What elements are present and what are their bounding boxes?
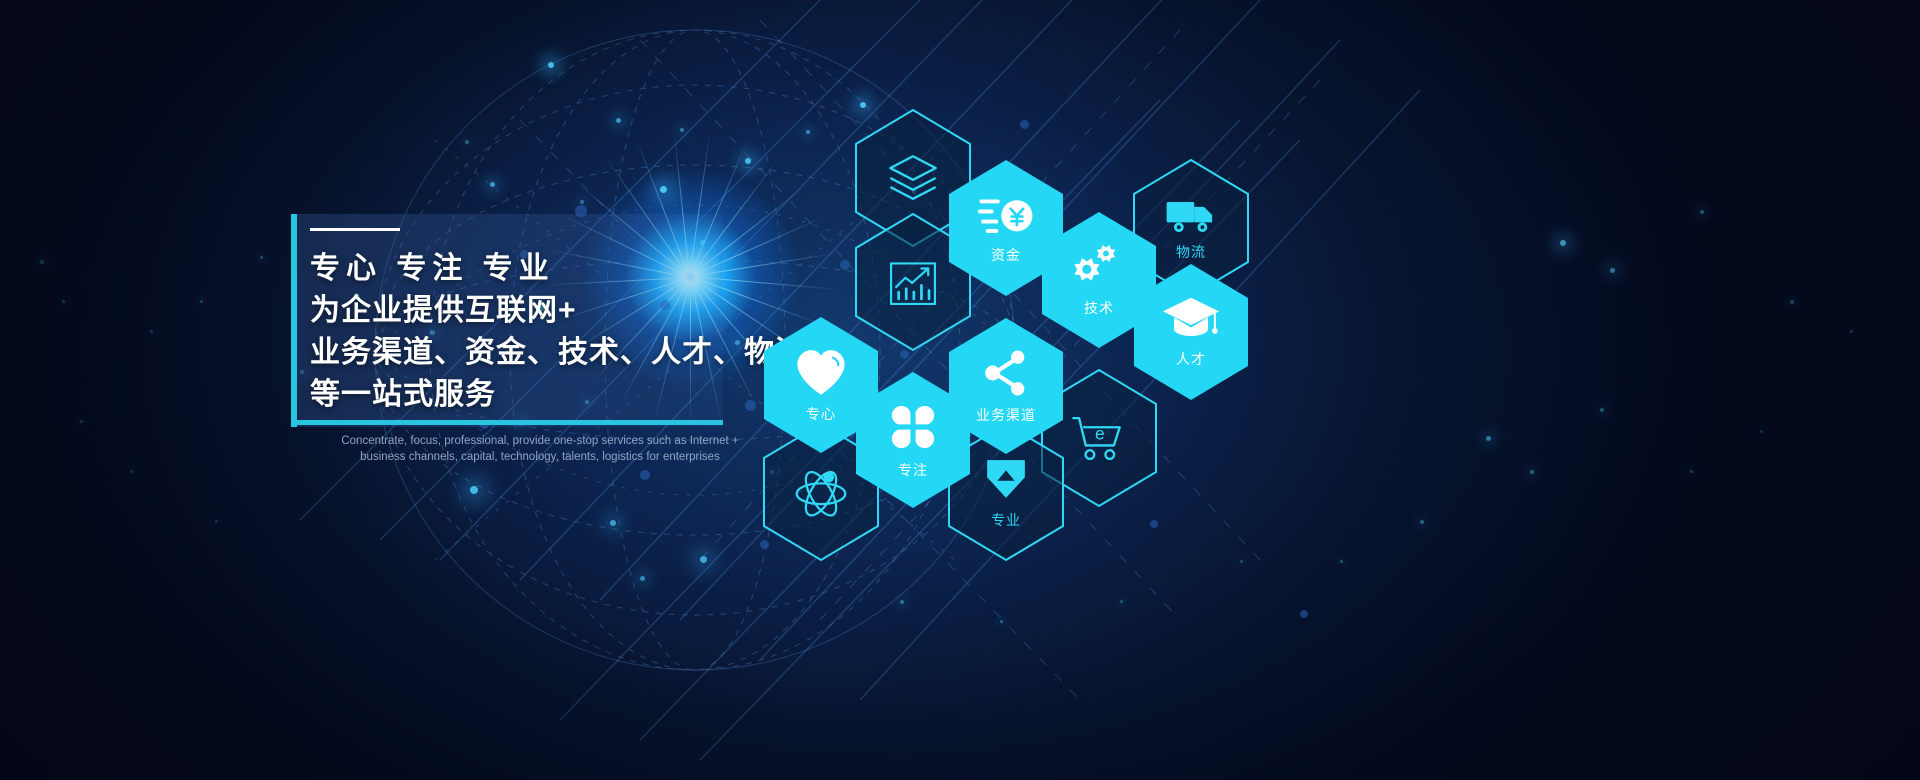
hex-label: 物流 bbox=[1176, 242, 1206, 262]
hexagon-cluster: 资金 物流 bbox=[740, 100, 1300, 520]
hex-label: 技术 bbox=[1084, 298, 1114, 318]
particle-dot bbox=[1700, 210, 1704, 214]
particle-dot bbox=[470, 486, 478, 494]
hex-tile-talent[interactable]: 人才 bbox=[1130, 262, 1252, 402]
hex-label: 资金 bbox=[991, 245, 1021, 265]
yen-money-icon bbox=[978, 192, 1034, 238]
headline-top-rule bbox=[310, 228, 400, 231]
diamond-icon bbox=[982, 455, 1030, 503]
particle-dot bbox=[1690, 470, 1693, 473]
particle-dot bbox=[1790, 300, 1794, 304]
heart-icon bbox=[794, 347, 848, 397]
particle-dot bbox=[260, 256, 263, 259]
particle-dot bbox=[40, 260, 44, 264]
particle-dot bbox=[1000, 620, 1003, 623]
particle-dot bbox=[640, 576, 645, 581]
hex-tile-focus[interactable]: 专注 bbox=[852, 370, 974, 510]
particle-dot bbox=[1120, 600, 1123, 603]
share-nodes-icon bbox=[981, 348, 1031, 398]
hex-label: 人才 bbox=[1176, 349, 1206, 369]
particle-dot bbox=[215, 520, 218, 523]
graduation-cap-icon bbox=[1162, 296, 1220, 342]
particle-dot bbox=[130, 470, 133, 473]
growth-chart-icon bbox=[886, 255, 940, 309]
headline-line-3: 业务渠道、资金、技术、人才、物流 bbox=[310, 332, 770, 374]
particle-dot bbox=[465, 140, 469, 144]
banner-stage: 专心 专注 专业 为企业提供互联网+ 业务渠道、资金、技术、人才、物流 等一站式… bbox=[0, 0, 1920, 780]
particle-blob bbox=[1300, 610, 1308, 618]
particle-dot bbox=[1760, 430, 1763, 433]
hex-label: 专注 bbox=[898, 460, 928, 480]
shopping-cart-e-icon: e bbox=[1070, 413, 1128, 463]
headline-underline bbox=[291, 420, 723, 425]
particle-dot bbox=[680, 128, 684, 132]
particle-dot bbox=[660, 186, 667, 193]
gears-icon bbox=[1073, 243, 1125, 291]
particle-dot bbox=[700, 556, 707, 563]
clover-icon bbox=[887, 401, 939, 453]
particle-dot bbox=[580, 200, 584, 204]
particle-blob bbox=[640, 470, 650, 480]
particle-dot bbox=[610, 520, 616, 526]
hex-label: 业务渠道 bbox=[976, 405, 1036, 425]
particle-dot bbox=[1560, 240, 1566, 246]
headline-line-2: 为企业提供互联网+ bbox=[310, 290, 770, 332]
headline-line-1: 专心 专注 专业 bbox=[310, 248, 770, 290]
particle-dot bbox=[1850, 330, 1853, 333]
particle-dot bbox=[150, 330, 153, 333]
atom-icon bbox=[793, 466, 849, 518]
particle-dot bbox=[1486, 436, 1491, 441]
hex-label: 专心 bbox=[806, 404, 836, 424]
particle-dot bbox=[80, 420, 83, 423]
particle-dot bbox=[1340, 560, 1343, 563]
particle-dot bbox=[1610, 268, 1615, 273]
english-subtitle: Concentrate, focus, professional, provid… bbox=[330, 434, 750, 465]
headline-line-4: 等一站式服务 bbox=[310, 374, 770, 416]
particle-dot bbox=[900, 600, 904, 604]
particle-dot bbox=[1530, 470, 1534, 474]
particle-dot bbox=[616, 118, 621, 123]
hex-label: 专业 bbox=[991, 510, 1021, 530]
particle-dot bbox=[490, 182, 495, 187]
truck-icon bbox=[1165, 195, 1217, 235]
particle-dot bbox=[1420, 520, 1424, 524]
svg-text:e: e bbox=[1095, 424, 1105, 444]
particle-dot bbox=[62, 300, 65, 303]
particle-blob bbox=[1150, 520, 1158, 528]
headline-block: 专心 专注 专业 为企业提供互联网+ 业务渠道、资金、技术、人才、物流 等一站式… bbox=[310, 228, 770, 416]
particle-dot bbox=[1240, 560, 1243, 563]
particle-dot bbox=[200, 300, 203, 303]
particle-dot bbox=[548, 62, 554, 68]
particle-dot bbox=[1600, 408, 1604, 412]
layers-icon bbox=[884, 149, 942, 207]
